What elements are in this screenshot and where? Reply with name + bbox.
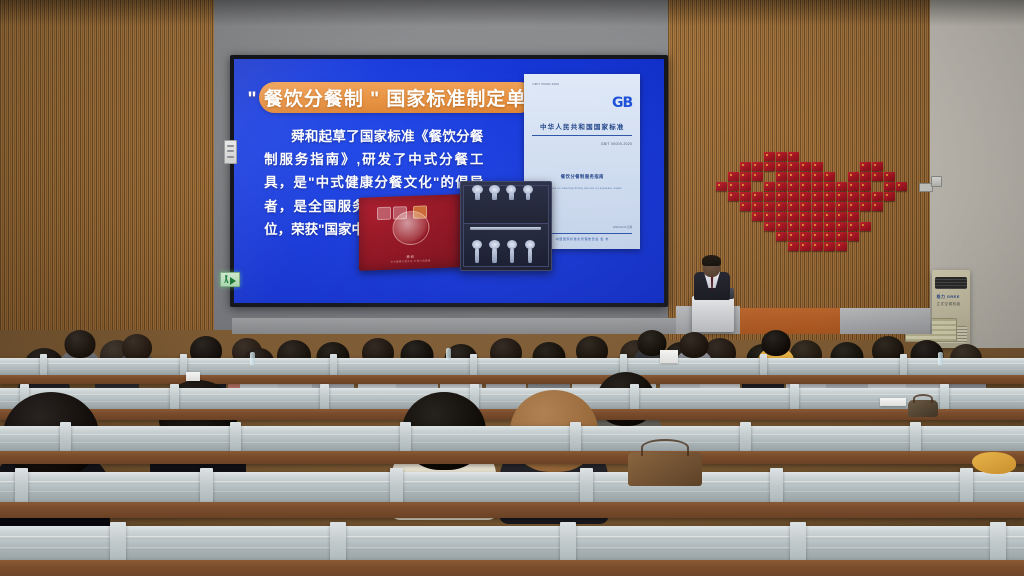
- flag-tile: [776, 162, 787, 171]
- utensil-case-image: [460, 181, 552, 271]
- flag-tile: [800, 212, 811, 221]
- flag-tile: [740, 162, 751, 171]
- seat-support-post: [900, 354, 907, 376]
- gb-logo: GB: [612, 95, 632, 111]
- auditorium-seating: [0, 330, 1024, 576]
- flag-tile: [740, 182, 751, 191]
- ac-brand-label: 格力 GREE: [937, 294, 960, 300]
- flag-tile: [776, 232, 787, 241]
- snack-item-on-desk: [972, 452, 1016, 474]
- seat-support-post: [630, 384, 639, 411]
- flag-tile: [728, 192, 739, 201]
- seat-support-post: [580, 468, 593, 506]
- gb-standard-title: 餐饮分餐制服务指南: [524, 174, 640, 180]
- flag-tile: [764, 212, 775, 221]
- flag-tile: [836, 242, 847, 251]
- utensil-bot-1: [475, 246, 479, 263]
- podium: [692, 296, 734, 332]
- water-bottle-1: [250, 352, 255, 365]
- desk-surface: [0, 451, 1024, 464]
- flag-tile: [848, 202, 859, 211]
- flag-tile: [800, 192, 811, 201]
- exit-arrow-icon: [230, 277, 236, 285]
- flag-tile: [812, 242, 823, 251]
- flag-tile: [896, 182, 907, 191]
- utensil-case-divider: [470, 227, 541, 230]
- flag-tile: [824, 232, 835, 241]
- flag-tile: [872, 172, 883, 181]
- emergency-exit-sign: [220, 272, 240, 287]
- flag-tile: [812, 182, 823, 191]
- handout-paper-2: [880, 398, 906, 406]
- flag-tile: [788, 152, 799, 161]
- flag-tile: [824, 212, 835, 221]
- panel-button-2[interactable]: [227, 150, 235, 152]
- flag-tile: [788, 222, 799, 231]
- ceiling-junction-box: [931, 176, 942, 187]
- utensil-top-1: [475, 191, 479, 201]
- flag-tile: [764, 202, 775, 211]
- flag-tile: [884, 182, 895, 191]
- seat-back: [0, 526, 1024, 560]
- gb-code: GB/T 00000-2020: [601, 142, 632, 146]
- flag-tile: [788, 242, 799, 251]
- flag-tile: [740, 192, 751, 201]
- screenshot-root: " 餐饮分餐制 " 国家标准制定单位 舜和起草了国家标准《餐饮分餐制服务指南》,…: [0, 0, 1024, 576]
- flag-tile: [752, 212, 763, 221]
- flag-tile: [884, 172, 895, 181]
- flag-tile: [824, 202, 835, 211]
- utensil-top-4: [526, 191, 530, 201]
- seat-support-post: [330, 354, 337, 376]
- flag-tile: [836, 202, 847, 211]
- seat-support-post: [470, 354, 477, 376]
- seat-back: [0, 426, 1024, 451]
- flag-tile: [812, 192, 823, 201]
- flag-tile: [860, 162, 871, 171]
- seat-support-post: [200, 468, 213, 506]
- flag-tile: [764, 162, 775, 171]
- seat-support-post: [320, 384, 329, 411]
- flag-tile: [848, 222, 859, 231]
- seat-support-post: [910, 422, 921, 454]
- flag-tile: [812, 202, 823, 211]
- seat-support-post: [790, 384, 799, 411]
- gift-box-seal-emblem: [392, 210, 429, 245]
- flag-tile: [788, 212, 799, 221]
- utensil-top-2: [492, 191, 496, 201]
- flag-tile: [764, 222, 775, 231]
- desk-surface: [0, 502, 1024, 518]
- flag-tile: [824, 242, 835, 251]
- water-bottle-3: [938, 352, 943, 365]
- flag-tile: [788, 192, 799, 201]
- seat-support-post: [60, 422, 71, 454]
- flag-tile: [824, 182, 835, 191]
- flag-tile: [800, 162, 811, 171]
- flag-tile: [764, 182, 775, 191]
- flag-tile: [764, 192, 775, 201]
- utensil-top-3: [509, 191, 513, 201]
- flag-tile: [860, 222, 871, 231]
- utensil-bot-3: [510, 246, 514, 263]
- small-bag-on-desk: [908, 400, 938, 417]
- person-head: [762, 330, 791, 356]
- flag-tile: [752, 162, 763, 171]
- flag-tile: [752, 172, 763, 181]
- gb-rule-top: [532, 135, 632, 136]
- flag-tile: [812, 232, 823, 241]
- flag-tile: [728, 172, 739, 181]
- flag-tile: [776, 212, 787, 221]
- ceiling-shadow: [0, 0, 1024, 26]
- flag-tile: [860, 172, 871, 181]
- person-head: [122, 334, 152, 361]
- flag-tile: [812, 212, 823, 221]
- flag-tile: [860, 182, 871, 191]
- flag-tile: [800, 172, 811, 181]
- exit-running-man-icon: [224, 275, 229, 283]
- flag-tile: [752, 192, 763, 201]
- handbag-on-desk: [628, 452, 702, 486]
- flag-tile: [776, 192, 787, 201]
- flag-tile: [788, 182, 799, 191]
- flag-tile: [836, 222, 847, 231]
- flag-tile: [776, 222, 787, 231]
- seat-support-post: [15, 468, 28, 506]
- person-head: [65, 330, 96, 358]
- flag-tile: [800, 222, 811, 231]
- bench-row: [0, 526, 1024, 576]
- seat-support-post: [960, 468, 973, 506]
- bench-row: [0, 472, 1024, 524]
- product-gift-box-image: 舜和 中式健康分餐文化 分餐工具套装: [359, 194, 462, 271]
- flag-tile: [800, 232, 811, 241]
- handout-paper-1: [660, 350, 678, 363]
- seat-support-post: [570, 422, 581, 454]
- seat-back: [0, 472, 1024, 502]
- flag-tile: [860, 202, 871, 211]
- flag-tile: [776, 172, 787, 181]
- flag-tile: [812, 222, 823, 231]
- flag-tile: [836, 192, 847, 201]
- flag-tile: [776, 182, 787, 191]
- flag-tile: [788, 202, 799, 211]
- utensil-bot-4: [528, 246, 532, 263]
- flag-tile: [776, 202, 787, 211]
- flag-tile: [788, 162, 799, 171]
- flag-tile: [872, 162, 883, 171]
- flag-tile: [776, 152, 787, 161]
- flag-tile: [788, 172, 799, 181]
- ac-sub-label: 立式空调机组: [937, 301, 961, 306]
- flag-tile: [788, 232, 799, 241]
- seat-support-post: [170, 384, 179, 411]
- seat-support-post: [760, 354, 767, 376]
- slide-title: " 餐饮分餐制 " 国家标准制定单位: [259, 82, 534, 113]
- flag-tile: [824, 172, 835, 181]
- flag-tile: [824, 222, 835, 231]
- flag-tile: [872, 192, 883, 201]
- presentation-slide: " 餐饮分餐制 " 国家标准制定单位 舜和起草了国家标准《餐饮分餐制服务指南》,…: [234, 59, 664, 303]
- seat-support-post: [40, 354, 47, 376]
- bench-row: [0, 426, 1024, 470]
- seat-support-post: [770, 468, 783, 506]
- seat-support-post: [740, 422, 751, 454]
- flag-tile: [836, 212, 847, 221]
- flag-tile: [728, 182, 739, 191]
- flag-tile: [812, 162, 823, 171]
- utensil-case-tray: [463, 223, 550, 267]
- flag-tile: [812, 172, 823, 181]
- gb-doc-icscode: GB/T 00000-2020: [532, 82, 559, 86]
- seat-support-post: [940, 384, 949, 411]
- flag-tile: [848, 192, 859, 201]
- flag-tile: [884, 192, 895, 201]
- flag-tile: [716, 182, 727, 191]
- flag-tile: [860, 192, 871, 201]
- utensil-case-lid: [463, 185, 550, 224]
- projection-screen-frame: " 餐饮分餐制 " 国家标准制定单位 舜和起草了国家标准《餐饮分餐制服务指南》,…: [230, 55, 668, 307]
- person-head: [680, 332, 709, 358]
- flag-tile: [740, 202, 751, 211]
- flag-tile: [848, 172, 859, 181]
- flag-tile: [800, 182, 811, 191]
- flag-tile: [752, 202, 763, 211]
- panel-button-3[interactable]: [227, 156, 235, 158]
- flag-tile: [764, 152, 775, 161]
- flag-tile: [800, 242, 811, 251]
- flag-tile: [836, 182, 847, 191]
- utensil-bot-2: [492, 246, 496, 263]
- flag-tile: [800, 202, 811, 211]
- flag-tile: [872, 202, 883, 211]
- flag-tile: [848, 182, 859, 191]
- seat-support-post: [230, 422, 241, 454]
- water-bottle-2: [446, 348, 451, 360]
- ac-grille-top: [935, 277, 967, 289]
- flag-tile: [824, 192, 835, 201]
- desk-surface: [0, 560, 1024, 576]
- flag-tile: [836, 232, 847, 241]
- seat-back: [0, 358, 1024, 375]
- china-map-flag-mosaic: [716, 152, 920, 268]
- gb-footer-right: 2020-00-00 实施: [613, 225, 632, 229]
- panel-button-1[interactable]: [227, 145, 235, 147]
- gift-box-badge-1: [376, 206, 390, 220]
- seat-support-post: [390, 468, 403, 506]
- gb-national-line: 中华人民共和国国家标准: [524, 121, 640, 131]
- flag-tile: [740, 172, 751, 181]
- handout-paper-3: [186, 372, 200, 381]
- wall-wood-left: [0, 0, 218, 330]
- wall-control-panel[interactable]: [224, 140, 237, 164]
- flag-tile: [848, 232, 859, 241]
- flag-tile: [848, 212, 859, 221]
- speaker-hair: [702, 255, 721, 266]
- seat-support-post: [400, 422, 411, 454]
